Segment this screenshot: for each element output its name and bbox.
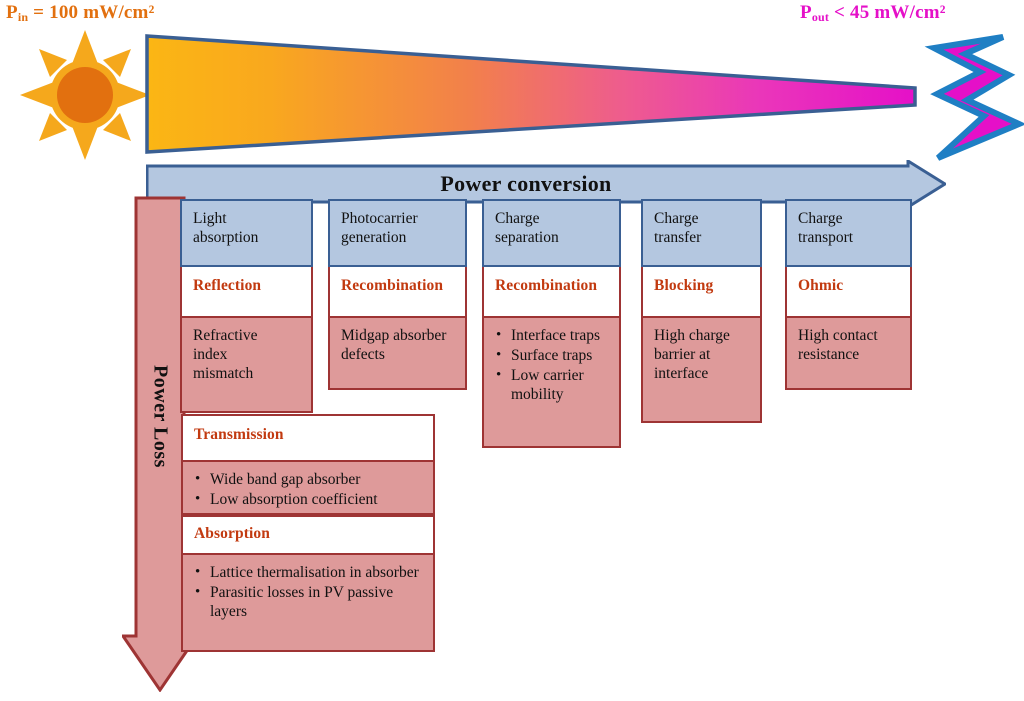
loss-body-absorption: Lattice thermalisation in absorberParasi…	[181, 555, 435, 652]
p-out-label: Pout < 45 mW/cm²	[800, 2, 946, 24]
stage-column-photocarrier-generation: Photocarriergeneration Recombination Mid…	[328, 199, 467, 390]
loss-bullet-item: Surface traps	[495, 347, 611, 366]
p-in-symbol: P	[6, 2, 18, 23]
loss-title-recombination-separation: Recombination	[482, 267, 621, 318]
lightning-bolt-icon	[934, 37, 1019, 158]
stage-header-charge-transfer: Chargetransfer	[641, 199, 762, 267]
loss-title-reflection: Reflection	[180, 267, 313, 318]
loss-body-photocarrier-generation: Midgap absorberdefects	[328, 318, 467, 390]
loss-title-blocking: Blocking	[641, 267, 762, 318]
loss-body-transmission: Wide band gap absorberLow absorption coe…	[181, 462, 435, 515]
loss-bullet-item: Low carrier mobility	[495, 367, 611, 405]
loss-title-recombination-generation: Recombination	[328, 267, 467, 318]
p-in-subscript: in	[18, 10, 28, 24]
p-in-value: = 100 mW/cm²	[28, 2, 154, 23]
loss-body-charge-transfer: High chargebarrier atinterface	[641, 318, 762, 423]
loss-body-charge-separation: Interface trapsSurface trapsLow carrier …	[482, 318, 621, 448]
loss-bullet-item: Low absorption coefficient	[194, 491, 427, 510]
loss-bullet-list-transmission: Wide band gap absorberLow absorption coe…	[194, 471, 427, 510]
stage-header-light-absorption: Lightabsorption	[180, 199, 313, 267]
stage-header-charge-transport: Chargetransport	[785, 199, 912, 267]
loss-bullet-list-charge-separation: Interface trapsSurface trapsLow carrier …	[495, 327, 611, 405]
loss-bullet-list-absorption: Lattice thermalisation in absorberParasi…	[194, 564, 427, 622]
stage-header-photocarrier-generation: Photocarriergeneration	[328, 199, 467, 267]
power-loss-text: Power Loss	[149, 365, 172, 468]
p-out-symbol: P	[800, 2, 812, 23]
loss-body-light-absorption: Refractiveindexmismatch	[180, 318, 313, 413]
stage-header-charge-separation: Chargeseparation	[482, 199, 621, 267]
loss-title-absorption: Absorption	[181, 515, 435, 555]
power-conversion-text: Power conversion	[440, 171, 611, 197]
loss-bullet-item: Wide band gap absorber	[194, 471, 427, 490]
loss-body-charge-transport: High contactresistance	[785, 318, 912, 390]
power-gradient-wedge	[147, 36, 915, 152]
loss-bullet-item: Interface traps	[495, 327, 611, 346]
p-out-value: < 45 mW/cm²	[829, 2, 946, 23]
wide-loss-group: Transmission Wide band gap absorberLow a…	[181, 414, 435, 652]
p-in-label: Pin = 100 mW/cm²	[6, 2, 154, 24]
diagram-canvas: Pin = 100 mW/cm² Pout < 45 mW/cm²	[0, 0, 1024, 701]
loss-title-ohmic: Ohmic	[785, 267, 912, 318]
p-out-subscript: out	[812, 10, 829, 24]
stage-column-light-absorption: Lightabsorption Reflection Refractiveind…	[180, 199, 313, 413]
loss-bullet-item: Parasitic losses in PV passive layers	[194, 584, 427, 622]
loss-title-transmission: Transmission	[181, 414, 435, 462]
stage-column-charge-transport: Chargetransport Ohmic High contactresist…	[785, 199, 912, 390]
loss-bullet-item: Lattice thermalisation in absorber	[194, 564, 427, 583]
sun-icon	[18, 28, 152, 162]
stage-column-charge-separation: Chargeseparation Recombination Interface…	[482, 199, 621, 448]
stage-column-charge-transfer: Chargetransfer Blocking High chargebarri…	[641, 199, 762, 423]
